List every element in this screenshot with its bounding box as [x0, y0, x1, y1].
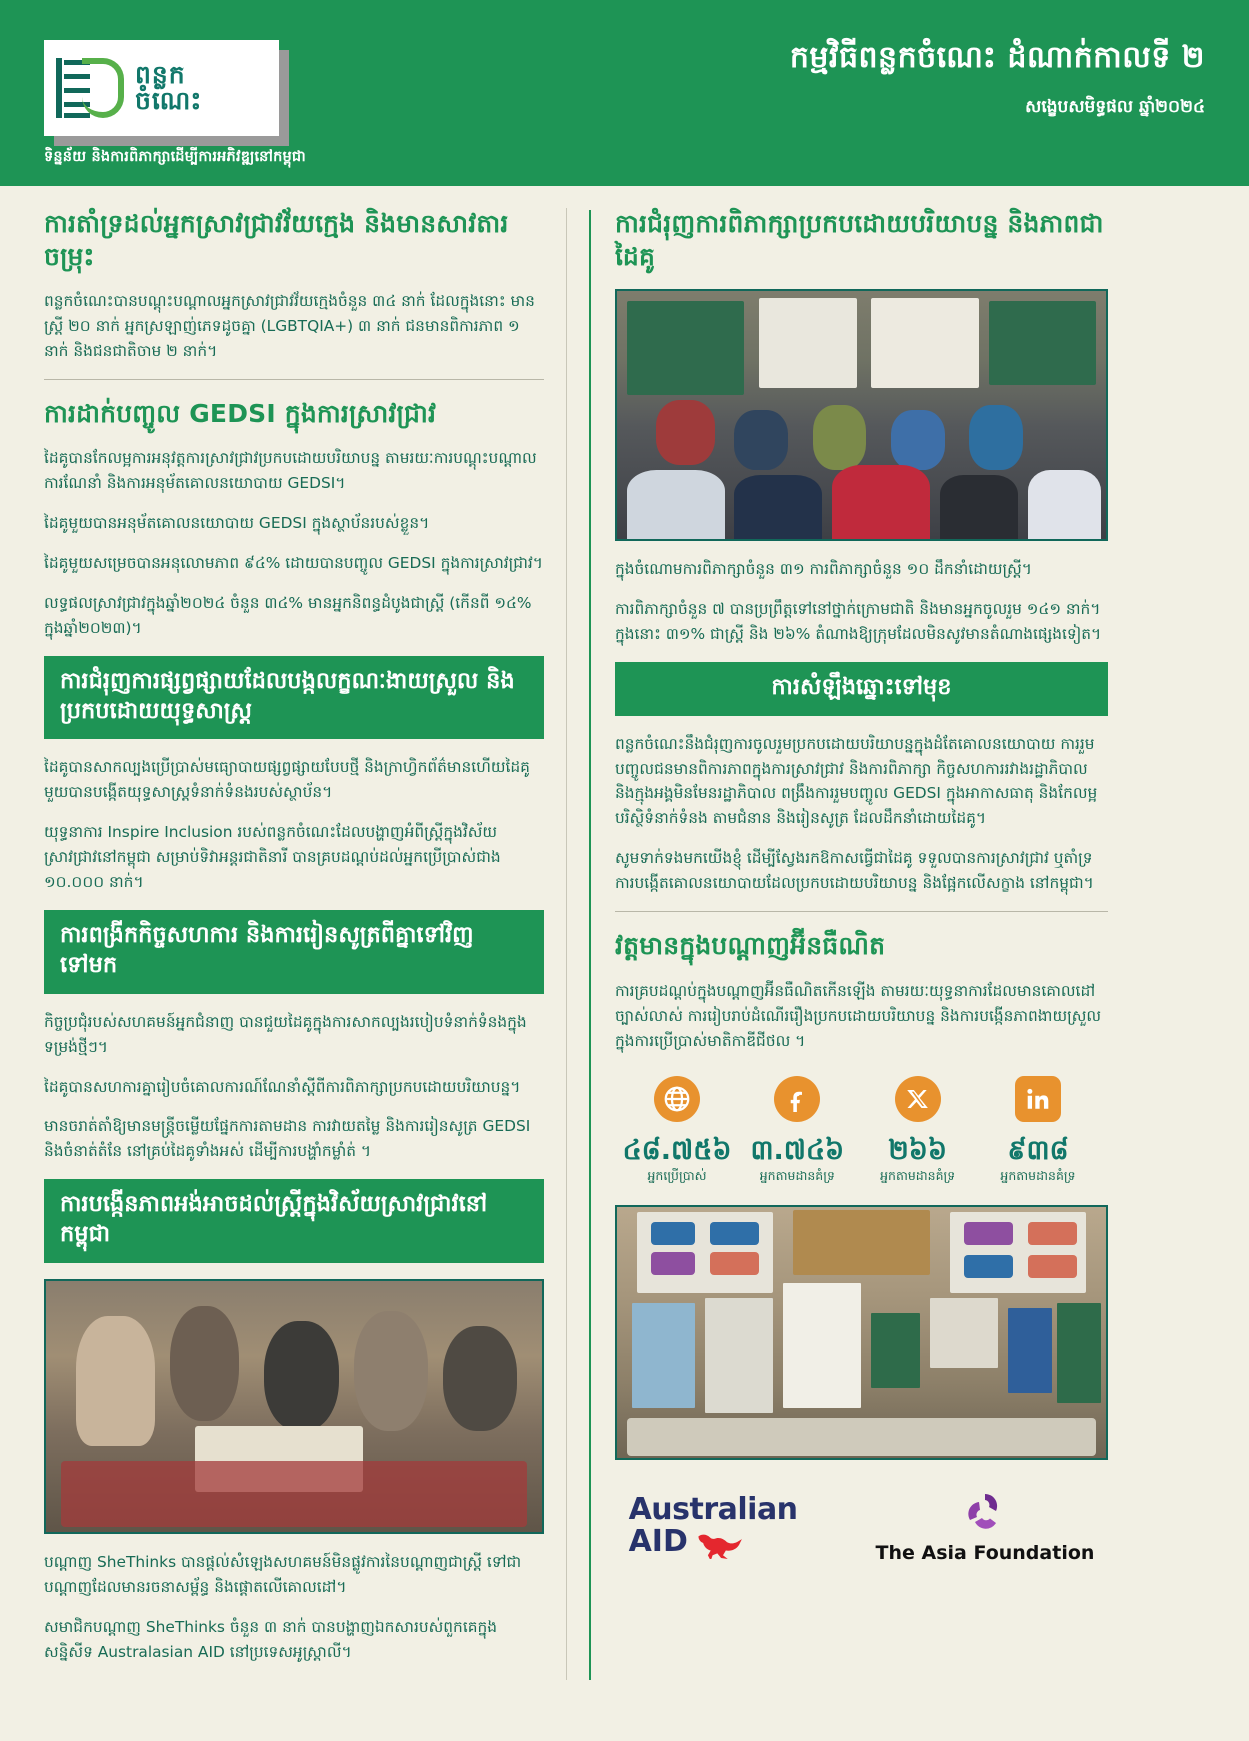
australian-aid-logo: Australian AID	[629, 1495, 798, 1559]
stat-label: អ្នកតាមដានគំទ្រ	[860, 1168, 976, 1187]
infographic-page: ពន្លក ចំណេះ ទិន្នន័យ និងការពិភាក្សាដើម្ប…	[0, 0, 1249, 1741]
classroom-workshop-photo	[615, 289, 1108, 541]
page-subtitle: សង្ខេបសមិទ្ធផល ឆ្នាំ២០២៤	[790, 96, 1205, 121]
x-twitter-icon[interactable]	[895, 1076, 941, 1122]
women-workshop-photo	[44, 1279, 544, 1534]
paragraph-reach: ពន្លកចំណេះបានបណ្ដុះបណ្ដាលអ្នកស្រាវជ្រាវវ…	[44, 289, 544, 364]
header-titles: កម្មវិធីពន្លកចំណេះ ដំណាក់កាលទី ២ សង្ខេបស…	[790, 38, 1205, 121]
paragraph-gedsi-3: ដៃគូមួយសម្រេចបានអនុលោមភាព ៩៤% ដោយបានបញ្ច…	[44, 551, 544, 576]
paragraph-online: ការគ្របដណ្ដប់ក្នុងបណ្ដាញអ៊ីនធឺណិតកើនឡើង …	[615, 979, 1108, 1054]
stat-label: អ្នកតាមដានគំទ្រ	[739, 1168, 855, 1187]
stat-value: ៤៨.៧៥៦	[619, 1136, 735, 1166]
asia-foundation-logo: The Asia Foundation	[876, 1490, 1095, 1564]
heading-women: ការបង្កើនភាពអង់អាចដល់ស្ត្រីក្នុងវិស័យស្រ…	[44, 1179, 544, 1262]
women-caption-block: បណ្ដាញ SheThinks បានផ្ដល់សំឡេងសហគមន៍មិនផ…	[44, 1550, 544, 1665]
heading-partnership: ការពង្រីកកិច្ចសហការ និងការរៀនសូត្រពីគ្នា…	[44, 910, 544, 993]
stat-value: ៩៣៨	[980, 1136, 1096, 1166]
logo-wordmark: ពន្លក ចំណេះ	[135, 62, 202, 115]
paragraph-women-1: បណ្ដាញ SheThinks បានផ្ដល់សំឡេងសហគមន៍មិនផ…	[44, 1550, 544, 1600]
paragraph-debate-2: ការពិភាក្សាចំនួន ៧ បានប្រព្រឹត្តទៅនៅថ្នា…	[615, 597, 1108, 647]
paragraph-women-2: សមាជិកបណ្ដាញ SheThinks ចំនួន ៣ នាក់ បានប…	[44, 1615, 544, 1665]
stat-x-twitter: ២៦៦ អ្នកតាមដានគំទ្រ	[860, 1076, 976, 1188]
paragraph-dissemination-2: យុទ្ធនាការ Inspire Inclusion របស់ពន្លកចំ…	[44, 820, 544, 895]
column-divider	[566, 208, 567, 1680]
page-title: កម្មវិធីពន្លកចំណេះ ដំណាក់កាលទី ២	[790, 38, 1205, 82]
paragraph-forward-2: សូមទាក់ទងមកយើងខ្ញុំ ដើម្បីស្វែងរកឱកាសធ្វ…	[615, 846, 1108, 896]
globe-icon[interactable]	[654, 1076, 700, 1122]
paragraph-forward-1: ពន្លកចំណេះនឹងជំរុញការចូលរួមប្រកបដោយបរិយា…	[615, 732, 1108, 832]
page-header: ពន្លក ចំណេះ ទិន្នន័យ និងការពិភាក្សាដើម្ប…	[0, 0, 1249, 186]
stat-website: ៤៨.៧៥៦ អ្នកប្រើប្រាស់	[619, 1076, 735, 1188]
stat-facebook: ៣.៧៤៦ អ្នកតាមដានគំទ្រ	[739, 1076, 855, 1188]
heading-gedsi: ការដាក់បញ្ចូល GEDSI ក្នុងការស្រាវជ្រាវ	[44, 398, 544, 431]
right-column-inner: ការជំរុញការពិភាក្សាប្រកបដោយបរិយាបន្ន និង…	[589, 208, 1108, 1574]
divider-online	[615, 911, 1108, 912]
right-column: ការជំរុញការពិភាក្សាប្រកបដោយបរិយាបន្ន និង…	[589, 208, 1108, 1680]
stat-label: អ្នកតាមដានគំទ្រ	[980, 1168, 1096, 1187]
stat-label: អ្នកប្រើប្រាស់	[619, 1168, 735, 1187]
paragraph-debate-1: ក្នុងចំណោមការពិភាក្សាចំនួន ៣១ ការពិភាក្ស…	[615, 557, 1108, 582]
heading-inclusive-debate: ការជំរុញការពិភាក្សាប្រកបដោយបរិយាបន្ន និង…	[615, 208, 1108, 273]
content-grid: ការតាំទ្រដល់អ្នកស្រាវជ្រាវវ័យក្មេង និងមា…	[0, 186, 1249, 1680]
heading-forward: ការសំឡឹងឆ្នោះទៅមុខ	[615, 662, 1108, 716]
australian-aid-line1: Australian	[629, 1495, 798, 1525]
stat-value: ២៦៦	[860, 1136, 976, 1166]
brand-logo: ពន្លក ចំណេះ	[44, 40, 279, 136]
leaf-icon	[82, 58, 124, 118]
stat-linkedin: ៩៣៨ អ្នកតាមដានគំទ្រ	[980, 1076, 1096, 1188]
stat-value: ៣.៧៤៦	[739, 1136, 855, 1166]
asia-foundation-mark-icon	[960, 1490, 1010, 1536]
australian-aid-line2: AID	[629, 1527, 688, 1557]
publications-booth-photo	[615, 1205, 1108, 1460]
paragraph-gedsi-2: ដៃគូមួយបានអនុម័តគោលនយោបាយ GEDSI ក្នុងស្ថ…	[44, 511, 544, 536]
paragraph-gedsi-4: លទ្ធផលស្រាវជ្រាវក្នុងឆ្នាំ២០២៤ ចំនួន ៣៤%…	[44, 591, 544, 641]
right-column-accent-line	[589, 210, 591, 1680]
paragraph-partnership-1: កិច្ចប្រជុំរបស់សហគមន៍អ្នកជំនាញ បានជួយដៃគ…	[44, 1010, 544, 1060]
logo-name-line1: ពន្លក	[135, 62, 202, 88]
book-leaf-logo-icon	[54, 54, 126, 122]
linkedin-icon[interactable]	[1015, 1076, 1061, 1122]
heading-dissemination: ការជំរុញការផ្សព្វផ្សាយដែលបង្កលក្ខណៈងាយស្…	[44, 656, 544, 739]
social-stats-row: ៤៨.៧៥៦ អ្នកប្រើប្រាស់ ៣.៧៤៦ អ្នកតាមដានគំ…	[615, 1076, 1108, 1188]
footer-logos: Australian AID	[615, 1490, 1108, 1574]
logo-card: ពន្លក ចំណេះ	[44, 40, 279, 136]
left-column: ការតាំទ្រដល់អ្នកស្រាវជ្រាវវ័យក្មេង និងមា…	[44, 208, 544, 1680]
paragraph-partnership-3: មានចរាត់តាំឱ្យមានមន្ត្រីចម្លើយផ្នែកការតា…	[44, 1114, 544, 1164]
paragraph-gedsi-1: ដៃគូបានកែលម្អការអនុវត្តការស្រាវជ្រាវប្រក…	[44, 446, 544, 496]
paragraph-partnership-2: ដៃគូបានសហការគ្នារៀបចំគោលការណ៍ណែនាំស្ដីពី…	[44, 1075, 544, 1100]
divider	[44, 379, 544, 380]
heading-reach: ការតាំទ្រដល់អ្នកស្រាវជ្រាវវ័យក្មេង និងមា…	[44, 208, 544, 273]
paragraph-dissemination-1: ដៃគូបានសាកល្បងប្រើប្រាស់មធ្យោបាយផ្សព្វផ្…	[44, 755, 544, 805]
kangaroo-icon	[694, 1525, 752, 1559]
heading-online: វត្តមានក្នុងបណ្ដាញអ៊ីនធឺណិត	[615, 930, 1108, 963]
facebook-icon[interactable]	[774, 1076, 820, 1122]
brand-tagline: ទិន្នន័យ និងការពិភាក្សាដើម្បីការអភិវឌ្ឍន…	[44, 148, 306, 169]
asia-foundation-name: The Asia Foundation	[876, 1542, 1095, 1564]
logo-name-line2: ចំណេះ	[135, 88, 202, 114]
